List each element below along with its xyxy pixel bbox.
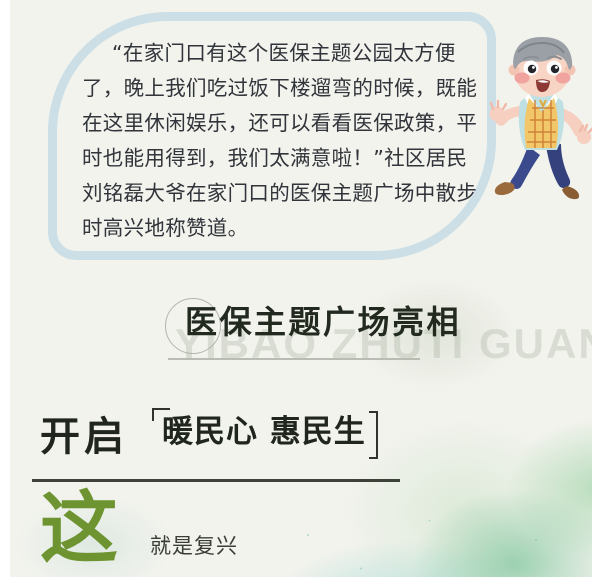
page-title: 医保主题广场亮相 [185, 297, 461, 343]
signature-small-text: 就是复兴 [150, 530, 238, 560]
quote-text: “在家门口有这个医保主题公园太方便了，晚上我们吃过饭下楼遛弯的时候，既能在这里休… [82, 36, 482, 246]
watercolor-speckle-texture [232, 367, 592, 577]
kicker-phrase-text: 暖民心 惠民生 [162, 414, 366, 450]
poster-canvas: “在家门口有这个医保主题公园太方便了，晚上我们吃过饭下楼遛弯的时候，既能在这里休… [10, 0, 592, 577]
bracket-corner-top-left-icon [152, 408, 170, 421]
kicker-lead-text: 开启 [40, 404, 128, 462]
figure-head [509, 37, 576, 97]
kicker-block: 开启 暖民心 惠民生 [40, 402, 400, 464]
figure-torso [519, 92, 564, 150]
signature-big-character: 这 [40, 490, 118, 568]
headline-underline [168, 358, 420, 360]
elderly-man-illustration [480, 30, 592, 220]
figure-legs [495, 144, 579, 199]
kicker-underline [32, 479, 400, 482]
bracket-right-icon [369, 411, 378, 459]
bracketed-phrase: 暖民心 惠民生 [152, 408, 378, 454]
headline-block: YIBAO ZHUTI GUANGCHANG LIANGXIANG 医保主题广场… [165, 296, 525, 362]
